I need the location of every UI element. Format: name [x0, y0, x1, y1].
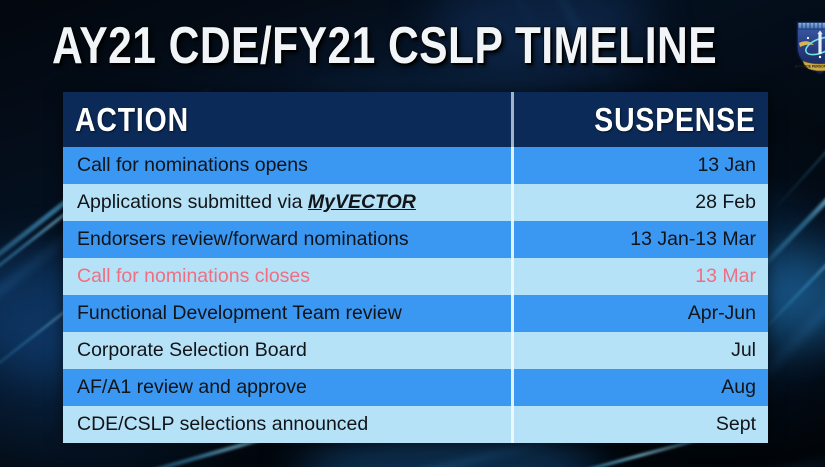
- cell-suspense: 28 Feb: [513, 184, 768, 221]
- cell-suspense: 13 Mar: [513, 258, 768, 295]
- table-row: Endorsers review/forward nominations13 J…: [63, 221, 768, 258]
- table-row: CDE/CSLP selections announcedSept: [63, 406, 768, 443]
- cell-suspense: Sept: [513, 406, 768, 443]
- page-title: AY21 CDE/FY21 CSLP TIMELINE: [52, 20, 717, 72]
- cell-suspense: Apr-Jun: [513, 295, 768, 332]
- light-streak: [769, 87, 825, 215]
- table-row: Applications submitted via MyVECTOR28 Fe…: [63, 184, 768, 221]
- cell-suspense: 13 Jan: [513, 147, 768, 184]
- light-streak: [602, 447, 825, 467]
- cell-action: Call for nominations opens: [63, 147, 513, 184]
- cell-action: Applications submitted via MyVECTOR: [63, 184, 513, 221]
- cell-suspense: 13 Jan-13 Mar: [513, 221, 768, 258]
- cell-action: CDE/CSLP selections announced: [63, 406, 513, 443]
- air-force-personnel-center-shield-icon: AIR FORCE PERSONNEL CENTER: [794, 16, 825, 76]
- svg-text:AIR FORCE PERSONNEL CENTER: AIR FORCE PERSONNEL CENTER: [794, 65, 825, 69]
- column-header-suspense: SUSPENSE: [513, 92, 768, 147]
- column-header-suspense-label: SUSPENSE: [595, 101, 756, 139]
- cell-action: Call for nominations closes: [63, 258, 513, 295]
- table-row: Call for nominations opens13 Jan: [63, 147, 768, 184]
- cell-suspense: Aug: [513, 369, 768, 406]
- column-header-action-label: ACTION: [75, 101, 189, 139]
- table-row: Call for nominations closes13 Mar: [63, 258, 768, 295]
- title-bar: AY21 CDE/FY21 CSLP TIMELINE: [0, 10, 825, 82]
- cell-action: Functional Development Team review: [63, 295, 513, 332]
- cell-suspense: Jul: [513, 332, 768, 369]
- table-row: Functional Development Team reviewApr-Ju…: [63, 295, 768, 332]
- timeline-table: ACTION SUSPENSE Call for nominations ope…: [63, 92, 768, 443]
- cell-action: Endorsers review/forward nominations: [63, 221, 513, 258]
- table-body: Call for nominations opens13 JanApplicat…: [63, 147, 768, 443]
- cell-action: AF/A1 review and approve: [63, 369, 513, 406]
- cell-action: Corporate Selection Board: [63, 332, 513, 369]
- column-header-action: ACTION: [63, 92, 513, 147]
- slide-canvas: AY21 CDE/FY21 CSLP TIMELINE: [0, 0, 825, 467]
- table-row: AF/A1 review and approveAug: [63, 369, 768, 406]
- myvector-emphasis: MyVECTOR: [308, 191, 416, 213]
- table-row: Corporate Selection BoardJul: [63, 332, 768, 369]
- table-header-row: ACTION SUSPENSE: [63, 92, 768, 147]
